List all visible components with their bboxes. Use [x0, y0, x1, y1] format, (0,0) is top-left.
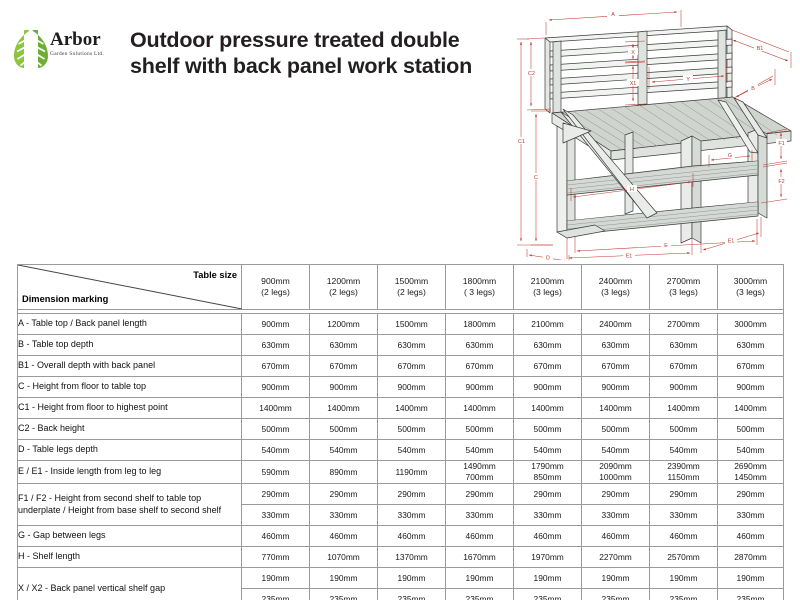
column-legs-7: (3 legs)	[718, 287, 783, 298]
dim-label-E1-left: E1	[626, 254, 633, 260]
column-header-7: 3000mm (3 legs)	[718, 265, 784, 310]
table-cell: 630mm	[718, 335, 784, 356]
table-cell: 540mm	[650, 440, 718, 461]
table-cell: 330mm	[446, 505, 514, 526]
row-label: H - Shelf length	[18, 547, 242, 568]
table-cell: 670mm	[378, 356, 446, 377]
table-cell: 2090mm1000mm	[582, 461, 650, 484]
table-cell: 500mm	[378, 419, 446, 440]
table-cell: 1190mm	[378, 461, 446, 484]
table-cell: 2870mm	[718, 547, 784, 568]
table-cell: 190mm	[650, 568, 718, 589]
dimension-marking-label: Dimension marking	[22, 294, 108, 304]
column-legs-3: ( 3 legs)	[446, 287, 513, 298]
table-cell: 1400mm	[718, 398, 784, 419]
table-row: B - Table top depth630mm630mm630mm630mm6…	[18, 335, 784, 356]
table-cell: 2400mm	[582, 314, 650, 335]
table-cell: 235mm	[378, 589, 446, 600]
table-cell: 460mm	[378, 526, 446, 547]
table-cell: 540mm	[378, 440, 446, 461]
column-size-2: 1500mm	[378, 276, 445, 287]
table-cell: 235mm	[242, 589, 310, 600]
table-cell: 235mm	[514, 589, 582, 600]
table-cell: 670mm	[446, 356, 514, 377]
table-cell: 540mm	[582, 440, 650, 461]
table-cell: 235mm	[446, 589, 514, 600]
table-cell: 2570mm	[650, 547, 718, 568]
dim-label-G: G	[728, 153, 732, 159]
column-size-3: 1800mm	[446, 276, 513, 287]
table-cell: 500mm	[242, 419, 310, 440]
table-cell: 330mm	[378, 505, 446, 526]
row-label-line1: F1 / F2 - Height from second shelf to ta…	[18, 493, 241, 505]
table-corner-cell: Table size Dimension marking	[18, 265, 242, 310]
table-cell: 670mm	[310, 356, 378, 377]
table-cell: 290mm	[650, 484, 718, 505]
row-label-line2: underplate / Height from base shelf to s…	[18, 505, 241, 517]
table-cell: 590mm	[242, 461, 310, 484]
table-cell: 1670mm	[446, 547, 514, 568]
table-row: E / E1 - Inside length from leg to leg59…	[18, 461, 784, 484]
column-header-3: 1800mm ( 3 legs)	[446, 265, 514, 310]
brand-subtitle: Garden Solutions Ltd.	[50, 51, 122, 58]
table-cell: 540mm	[242, 440, 310, 461]
table-cell: 330mm	[718, 505, 784, 526]
table-cell: 290mm	[242, 484, 310, 505]
table-cell: 1400mm	[650, 398, 718, 419]
row-label: D - Table legs depth	[18, 440, 242, 461]
page-root: Arbor Garden Solutions Ltd. Outdoor pres…	[0, 0, 800, 600]
row-label: C2 - Back height	[18, 419, 242, 440]
table-cell: 900mm	[242, 314, 310, 335]
table-row: F1 / F2 - Height from second shelf to ta…	[18, 484, 784, 505]
table-cell: 1500mm	[378, 314, 446, 335]
dim-label-F1: F1	[778, 141, 784, 147]
table-cell: 900mm	[582, 377, 650, 398]
table-cell: 670mm	[718, 356, 784, 377]
table-cell: 670mm	[242, 356, 310, 377]
table-cell: 330mm	[310, 505, 378, 526]
table-row: C - Height from floor to table top900mm9…	[18, 377, 784, 398]
dim-label-C: C	[534, 175, 538, 181]
row-label: B - Table top depth	[18, 335, 242, 356]
specifications-table: Table size Dimension marking 900mm (2 le…	[17, 264, 784, 600]
row-label: X / X2 - Back panel vertical shelf gap	[18, 568, 242, 600]
table-cell: 630mm	[446, 335, 514, 356]
table-row: X / X2 - Back panel vertical shelf gap19…	[18, 568, 784, 589]
table-cell: 2100mm	[514, 314, 582, 335]
table-cell: 540mm	[310, 440, 378, 461]
table-cell: 1790mm850mm	[514, 461, 582, 484]
table-cell: 1400mm	[582, 398, 650, 419]
table-row: C2 - Back height500mm500mm500mm500mm500m…	[18, 419, 784, 440]
row-label: C - Height from floor to table top	[18, 377, 242, 398]
column-header-1: 1200mm (2 legs)	[310, 265, 378, 310]
column-size-5: 2400mm	[582, 276, 649, 287]
table-cell: 500mm	[446, 419, 514, 440]
table-cell: 1490mm700mm	[446, 461, 514, 484]
dim-label-C1: C1	[518, 139, 525, 145]
table-cell: 1070mm	[310, 547, 378, 568]
table-cell: 900mm	[446, 377, 514, 398]
table-header-row: Table size Dimension marking 900mm (2 le…	[18, 265, 784, 310]
table-cell: 900mm	[514, 377, 582, 398]
table-cell: 190mm	[446, 568, 514, 589]
table-cell: 900mm	[378, 377, 446, 398]
table-cell: 630mm	[582, 335, 650, 356]
row-label: C1 - Height from floor to highest point	[18, 398, 242, 419]
table-cell: 235mm	[650, 589, 718, 600]
table-cell: 540mm	[446, 440, 514, 461]
table-cell: 460mm	[242, 526, 310, 547]
row-label: G - Gap between legs	[18, 526, 242, 547]
column-header-5: 2400mm (3 legs)	[582, 265, 650, 310]
dim-label-X1: X1	[630, 81, 637, 87]
dim-label-B1: B1	[757, 46, 764, 52]
table-cell: 290mm	[582, 484, 650, 505]
table-cell: 1400mm	[446, 398, 514, 419]
column-legs-2: (2 legs)	[378, 287, 445, 298]
page-header: Arbor Garden Solutions Ltd. Outdoor pres…	[0, 0, 520, 130]
table-cell: 630mm	[650, 335, 718, 356]
table-cell: 190mm	[310, 568, 378, 589]
column-header-6: 2700mm (3 legs)	[650, 265, 718, 310]
table-cell: 190mm	[514, 568, 582, 589]
table-row: A - Table top / Back panel length900mm12…	[18, 314, 784, 335]
column-size-0: 900mm	[242, 276, 309, 287]
table-cell: 1400mm	[310, 398, 378, 419]
row-label: B1 - Overall depth with back panel	[18, 356, 242, 377]
table-cell: 1800mm	[446, 314, 514, 335]
column-size-6: 2700mm	[650, 276, 717, 287]
column-header-4: 2100mm (3 legs)	[514, 265, 582, 310]
drawing-svg: A C2 C1 C D X X1 Y B1 B	[505, 5, 800, 260]
table-cell: 1400mm	[242, 398, 310, 419]
column-legs-1: (2 legs)	[310, 287, 377, 298]
table-cell: 460mm	[718, 526, 784, 547]
brand-wordmark: Arbor Garden Solutions Ltd.	[50, 30, 122, 58]
table-cell: 1400mm	[378, 398, 446, 419]
dim-label-F2: F2	[778, 179, 784, 185]
dim-label-D: D	[546, 256, 550, 261]
row-label: E / E1 - Inside length from leg to leg	[18, 461, 242, 484]
column-size-1: 1200mm	[310, 276, 377, 287]
dim-label-C2: C2	[528, 71, 535, 77]
column-legs-6: (3 legs)	[650, 287, 717, 298]
table-cell: 330mm	[514, 505, 582, 526]
table-cell: 290mm	[514, 484, 582, 505]
table-cell: 540mm	[718, 440, 784, 461]
table-cell: 900mm	[310, 377, 378, 398]
table-row: B1 - Overall depth with back panel670mm6…	[18, 356, 784, 377]
dim-label-X: X	[631, 50, 635, 56]
table-cell: 1970mm	[514, 547, 582, 568]
table-cell: 630mm	[242, 335, 310, 356]
column-size-4: 2100mm	[514, 276, 581, 287]
table-cell: 330mm	[582, 505, 650, 526]
table-row: C1 - Height from floor to highest point1…	[18, 398, 784, 419]
table-body: A - Table top / Back panel length900mm12…	[18, 310, 784, 600]
dim-label-E1-right: E1	[728, 239, 735, 245]
table-cell: 500mm	[514, 419, 582, 440]
table-cell: 2700mm	[650, 314, 718, 335]
table-row: H - Shelf length770mm1070mm1370mm1670mm1…	[18, 547, 784, 568]
table-cell: 290mm	[310, 484, 378, 505]
table-cell: 890mm	[310, 461, 378, 484]
column-header-2: 1500mm (2 legs)	[378, 265, 446, 310]
table-cell: 235mm	[718, 589, 784, 600]
table-cell: 190mm	[582, 568, 650, 589]
table-cell: 900mm	[650, 377, 718, 398]
column-legs-0: (2 legs)	[242, 287, 309, 298]
dim-label-H: H	[630, 187, 634, 193]
table-cell: 1200mm	[310, 314, 378, 335]
table-cell: 460mm	[582, 526, 650, 547]
table-cell: 500mm	[582, 419, 650, 440]
table-cell: 460mm	[650, 526, 718, 547]
table-cell: 670mm	[514, 356, 582, 377]
dim-label-A: A	[611, 12, 615, 18]
table-cell: 460mm	[446, 526, 514, 547]
table-cell: 630mm	[514, 335, 582, 356]
table-cell: 1400mm	[514, 398, 582, 419]
table-cell: 235mm	[310, 589, 378, 600]
table-cell: 500mm	[718, 419, 784, 440]
table-cell: 900mm	[242, 377, 310, 398]
table-cell: 540mm	[514, 440, 582, 461]
row-label: A - Table top / Back panel length	[18, 314, 242, 335]
table-cell: 2270mm	[582, 547, 650, 568]
table-row: G - Gap between legs460mm460mm460mm460mm…	[18, 526, 784, 547]
leaf-icon	[12, 29, 50, 69]
table-cell: 900mm	[718, 377, 784, 398]
table-row: D - Table legs depth540mm540mm540mm540mm…	[18, 440, 784, 461]
table-cell: 190mm	[718, 568, 784, 589]
table-cell: 770mm	[242, 547, 310, 568]
table-cell: 500mm	[650, 419, 718, 440]
table-cell: 670mm	[582, 356, 650, 377]
table-cell: 2690mm1450mm	[718, 461, 784, 484]
table-cell: 500mm	[310, 419, 378, 440]
table-cell: 630mm	[310, 335, 378, 356]
table-cell: 330mm	[650, 505, 718, 526]
column-legs-5: (3 legs)	[582, 287, 649, 298]
table-cell: 2390mm1150mm	[650, 461, 718, 484]
table-cell: 3000mm	[718, 314, 784, 335]
table-cell: 290mm	[446, 484, 514, 505]
table-cell: 235mm	[582, 589, 650, 600]
column-legs-4: (3 legs)	[514, 287, 581, 298]
page-title: Outdoor pressure treated double shelf wi…	[130, 27, 510, 79]
table-cell: 630mm	[378, 335, 446, 356]
column-size-7: 3000mm	[718, 276, 783, 287]
table-cell: 190mm	[242, 568, 310, 589]
table-cell: 1370mm	[378, 547, 446, 568]
table-cell: 190mm	[378, 568, 446, 589]
row-label: F1 / F2 - Height from second shelf to ta…	[18, 484, 242, 526]
table-cell: 290mm	[378, 484, 446, 505]
table-cell: 460mm	[514, 526, 582, 547]
table-cell: 460mm	[310, 526, 378, 547]
table-cell: 290mm	[718, 484, 784, 505]
table-cell: 670mm	[650, 356, 718, 377]
brand-logo: Arbor Garden Solutions Ltd.	[12, 27, 120, 73]
dim-label-B: B	[751, 86, 755, 92]
dim-label-E: E	[664, 243, 668, 249]
brand-name: Arbor	[50, 30, 122, 50]
table-head: Table size Dimension marking 900mm (2 le…	[18, 265, 784, 310]
specifications-table-container: Table size Dimension marking 900mm (2 le…	[17, 264, 783, 600]
column-header-0: 900mm (2 legs)	[242, 265, 310, 310]
table-size-label: Table size	[193, 270, 237, 280]
table-cell: 330mm	[242, 505, 310, 526]
dim-label-Y: Y	[686, 77, 690, 83]
technical-drawing: A C2 C1 C D X X1 Y B1 B	[505, 5, 800, 260]
